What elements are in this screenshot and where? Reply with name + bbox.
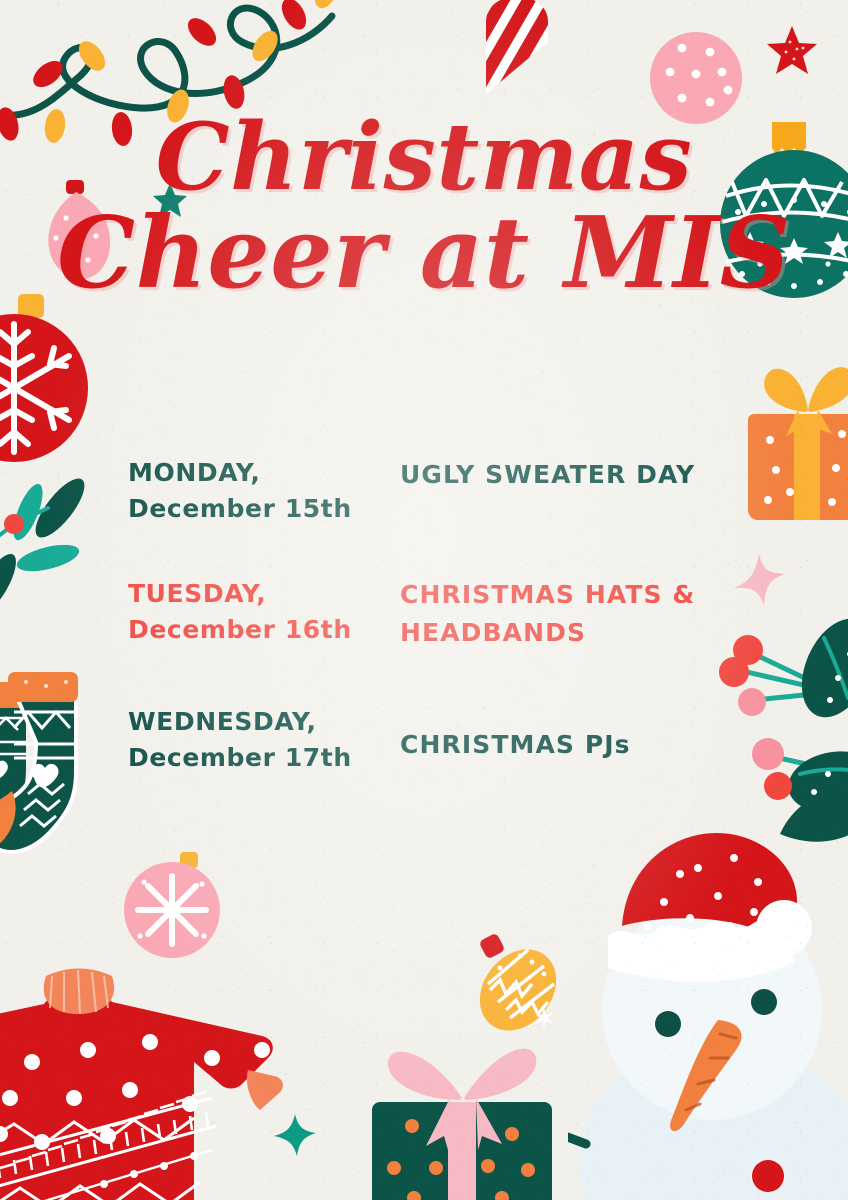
schedule-day-wednesday: WEDNESDAY, December 17th xyxy=(128,700,400,777)
activity-monday: UGLY SWEATER DAY xyxy=(400,455,768,494)
yellow-patterned-bauble-icon xyxy=(462,928,572,1038)
date-wednesday: December 17th xyxy=(128,740,400,776)
activity-tuesday: CHRISTMAS HATS & HEADBANDS xyxy=(400,576,768,652)
schedule-row-monday: MONDAY, December 15th UGLY SWEATER DAY xyxy=(128,455,768,528)
red-ugly-sweater-icon xyxy=(0,946,354,1200)
red-star-icon xyxy=(766,24,818,76)
pink-teardrop-bauble-icon xyxy=(38,178,116,288)
green-gift-pink-bow-icon xyxy=(352,1024,572,1200)
red-snowflake-bauble-icon xyxy=(0,286,110,466)
mistletoe-sprig-icon xyxy=(0,472,124,622)
snowman-santa-hat-icon xyxy=(568,806,848,1200)
schedule-day-tuesday: TUESDAY, December 16th xyxy=(128,576,400,649)
activity-wednesday: CHRISTMAS PJs xyxy=(400,700,768,764)
teal-patterned-bauble-icon xyxy=(716,104,848,304)
pink-starburst-bauble-icon xyxy=(118,848,228,962)
day-of-week-monday: MONDAY, xyxy=(128,455,400,491)
green-leaf-bottom-right-icon xyxy=(770,770,848,860)
candy-cane-icon xyxy=(452,0,572,96)
day-of-week-wednesday: WEDNESDAY, xyxy=(128,704,400,740)
day-of-week-tuesday: TUESDAY, xyxy=(128,576,400,612)
event-schedule-list: MONDAY, December 15th UGLY SWEATER DAY T… xyxy=(128,455,768,776)
schedule-row-wednesday: WEDNESDAY, December 17th CHRISTMAS PJs xyxy=(128,700,768,777)
teal-star-bottom-icon xyxy=(272,1112,318,1158)
string-lights-garland-icon xyxy=(0,0,400,154)
schedule-day-monday: MONDAY, December 15th xyxy=(128,455,400,528)
date-monday: December 15th xyxy=(128,491,400,527)
christmas-poster: Christmas Cheer at MIS MONDAY, December … xyxy=(0,0,848,1200)
teal-star-small-icon xyxy=(152,182,188,218)
schedule-row-tuesday: TUESDAY, December 16th CHRISTMAS HATS & … xyxy=(128,576,768,652)
date-tuesday: December 16th xyxy=(128,612,400,648)
